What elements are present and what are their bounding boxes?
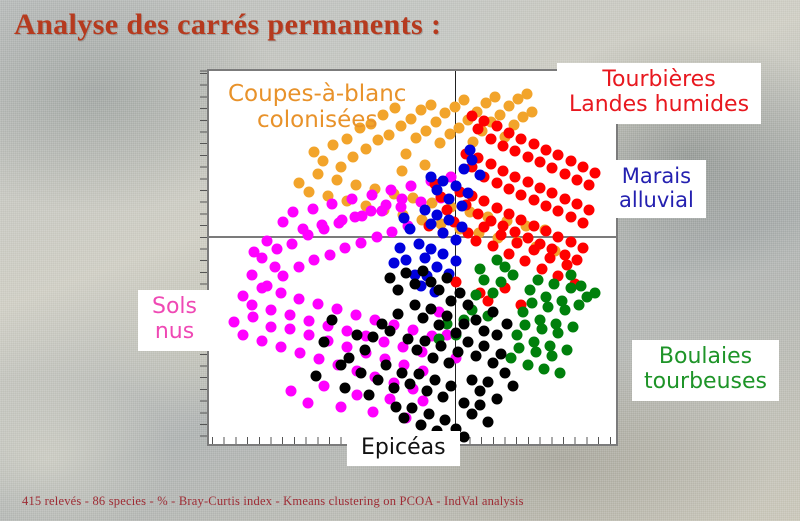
data-point: [335, 162, 346, 173]
data-point: [479, 222, 490, 233]
data-point: [547, 188, 558, 199]
data-point: [384, 326, 395, 337]
data-point: [313, 169, 324, 180]
data-point: [462, 188, 473, 199]
data-point: [388, 258, 399, 269]
data-point: [335, 401, 346, 412]
data-point: [430, 117, 441, 128]
data-point: [491, 178, 502, 189]
data-point: [504, 127, 515, 138]
cluster-label-boulaies-tourbeuses: Boulaies tourbeuses: [632, 340, 779, 401]
data-point: [401, 267, 412, 278]
data-point: [528, 194, 539, 205]
data-point: [395, 243, 406, 254]
data-point: [504, 209, 515, 220]
data-point: [504, 183, 515, 194]
data-point: [487, 241, 498, 252]
data-point: [419, 335, 430, 346]
cluster-label-tourbieres: Tourbières Landes humides: [557, 63, 761, 124]
data-point: [405, 378, 416, 389]
data-point: [413, 369, 424, 380]
data-point: [522, 88, 533, 99]
data-point: [348, 151, 359, 162]
page-title: Analyse des carrés permanents :: [14, 8, 441, 42]
data-point: [538, 363, 549, 374]
data-point: [578, 243, 589, 254]
data-point: [313, 354, 324, 365]
data-point: [351, 390, 362, 401]
data-point: [450, 234, 461, 245]
data-point: [256, 283, 267, 294]
data-point: [485, 158, 496, 169]
data-point: [512, 329, 523, 340]
data-point: [411, 344, 422, 355]
data-point: [307, 203, 318, 214]
data-point: [555, 367, 566, 378]
data-point: [545, 252, 556, 263]
data-point: [340, 243, 351, 254]
data-point: [297, 224, 308, 235]
data-point: [310, 371, 321, 382]
data-point: [475, 386, 486, 397]
data-point: [487, 288, 498, 299]
data-point: [516, 189, 527, 200]
data-point: [541, 225, 552, 236]
data-point: [415, 420, 426, 431]
data-point: [324, 249, 335, 260]
data-point: [518, 307, 529, 318]
data-point: [549, 279, 560, 290]
cluster-label-epiceas: Epicéas: [347, 431, 460, 466]
data-point: [491, 329, 502, 340]
data-point: [266, 305, 277, 316]
data-point: [491, 393, 502, 404]
data-point: [479, 341, 490, 352]
data-point: [446, 380, 457, 391]
data-point: [536, 263, 547, 274]
data-point: [379, 336, 390, 347]
data-point: [565, 156, 576, 167]
data-point: [530, 346, 541, 357]
data-point: [405, 224, 416, 235]
data-point: [471, 235, 482, 246]
data-point: [397, 367, 408, 378]
data-point: [368, 331, 379, 342]
data-point: [434, 284, 445, 295]
data-point: [351, 329, 362, 340]
data-point: [277, 216, 288, 227]
data-point: [522, 151, 533, 162]
data-point: [421, 126, 432, 137]
data-point: [438, 176, 449, 187]
data-point: [277, 271, 288, 282]
data-point: [473, 209, 484, 220]
data-point: [303, 315, 314, 326]
data-point: [571, 174, 582, 185]
data-point: [409, 299, 420, 310]
data-point: [427, 352, 438, 363]
data-point: [559, 168, 570, 179]
data-point: [432, 262, 443, 273]
data-point: [403, 333, 414, 344]
data-point: [387, 226, 398, 237]
data-point: [504, 248, 515, 259]
data-point: [467, 154, 478, 165]
data-point: [547, 163, 558, 174]
data-point: [356, 210, 367, 221]
data-point: [361, 143, 372, 154]
data-point: [553, 328, 564, 339]
data-point: [293, 262, 304, 273]
data-point: [506, 352, 517, 363]
data-point: [495, 348, 506, 359]
data-point: [327, 314, 338, 325]
data-point: [446, 295, 457, 306]
data-point: [351, 309, 362, 320]
data-point: [467, 375, 478, 386]
data-point: [467, 409, 478, 420]
data-point: [501, 318, 512, 329]
data-point: [458, 397, 469, 408]
data-point: [479, 115, 490, 126]
data-point: [419, 160, 430, 171]
data-point: [450, 181, 461, 192]
data-point: [417, 395, 428, 406]
data-point: [319, 337, 330, 348]
data-point: [522, 360, 533, 371]
data-point: [303, 186, 314, 197]
data-point: [497, 165, 508, 176]
data-point: [380, 360, 391, 371]
data-point: [238, 329, 249, 340]
data-point: [524, 284, 535, 295]
data-point: [417, 265, 428, 276]
data-point: [541, 200, 552, 211]
data-point: [491, 254, 502, 265]
data-point: [565, 237, 576, 248]
data-point: [386, 185, 397, 196]
data-point: [536, 324, 547, 335]
data-point: [510, 171, 521, 182]
data-point: [444, 194, 455, 205]
data-point: [458, 431, 469, 442]
data-point: [393, 309, 404, 320]
data-point: [561, 344, 572, 355]
data-point: [430, 375, 441, 386]
data-point: [526, 297, 537, 308]
data-point: [565, 212, 576, 223]
data-point: [510, 145, 521, 156]
data-point: [553, 150, 564, 161]
data-point: [483, 377, 494, 388]
data-point: [458, 95, 469, 106]
data-point: [495, 277, 506, 288]
data-point: [368, 407, 379, 418]
data-point: [342, 341, 353, 352]
data-point: [421, 386, 432, 397]
data-point: [528, 220, 539, 231]
data-point: [475, 263, 486, 274]
data-point: [294, 347, 305, 358]
data-point: [407, 403, 418, 414]
data-point: [425, 243, 436, 254]
data-point: [491, 203, 502, 214]
data-point: [508, 269, 519, 280]
data-point: [442, 273, 453, 284]
cluster-label-marais-alluvial: Marais alluvial: [607, 160, 706, 218]
data-point: [456, 222, 467, 233]
data-point: [522, 232, 533, 243]
data-point: [471, 314, 482, 325]
data-point: [528, 245, 539, 256]
data-point: [528, 139, 539, 150]
data-point: [335, 360, 346, 371]
data-point: [425, 171, 436, 182]
data-point: [526, 106, 537, 117]
data-point: [425, 99, 436, 110]
data-point: [339, 382, 350, 393]
data-point: [435, 138, 446, 149]
data-point: [590, 167, 601, 178]
data-point: [559, 194, 570, 205]
data-point: [571, 255, 582, 266]
cluster-label-sols-nus: Sols nus: [138, 290, 211, 351]
data-point: [371, 231, 382, 242]
data-point: [434, 320, 445, 331]
data-point: [285, 323, 296, 334]
data-point: [409, 279, 420, 290]
data-point: [490, 92, 501, 103]
data-point: [417, 312, 428, 323]
data-point: [452, 346, 463, 357]
data-point: [438, 228, 449, 239]
data-point: [397, 165, 408, 176]
data-point: [438, 392, 449, 403]
data-point: [479, 275, 490, 286]
data-point: [499, 367, 510, 378]
data-point: [319, 380, 330, 391]
data-point: [304, 329, 315, 340]
data-point: [584, 205, 595, 216]
data-point: [475, 169, 486, 180]
data-point: [328, 140, 339, 151]
data-point: [541, 145, 552, 156]
data-point: [520, 256, 531, 267]
data-point: [399, 213, 410, 224]
data-point: [401, 254, 412, 265]
data-point: [487, 307, 498, 318]
data-point: [356, 237, 367, 248]
data-point: [399, 412, 410, 423]
data-point: [520, 320, 531, 331]
data-point: [534, 182, 545, 193]
data-point: [294, 293, 305, 304]
data-point: [249, 246, 260, 257]
data-point: [479, 196, 490, 207]
data-point: [327, 198, 338, 209]
data-point: [571, 199, 582, 210]
data-point: [450, 328, 461, 339]
data-point: [578, 217, 589, 228]
data-point: [257, 335, 268, 346]
data-point: [287, 238, 298, 249]
data-point: [462, 299, 473, 310]
data-point: [425, 277, 436, 288]
data-point: [332, 304, 343, 315]
data-point: [261, 235, 272, 246]
data-point: [444, 358, 455, 369]
data-point: [590, 288, 601, 299]
figure-caption: 415 relevés - 86 species - % - Bray-Curt…: [22, 494, 524, 509]
data-point: [475, 399, 486, 410]
data-point: [286, 386, 297, 397]
data-point: [284, 310, 295, 321]
data-point: [228, 316, 239, 327]
data-point: [247, 299, 258, 310]
data-point: [247, 269, 258, 280]
data-point: [308, 147, 319, 158]
data-point: [356, 367, 367, 378]
data-point: [522, 176, 533, 187]
data-point: [351, 179, 362, 190]
data-point: [396, 201, 407, 212]
data-point: [565, 269, 576, 280]
data-point: [376, 206, 387, 217]
data-point: [313, 298, 324, 309]
data-point: [275, 341, 286, 352]
data-point: [494, 109, 505, 120]
data-point: [532, 275, 543, 286]
data-point: [567, 322, 578, 333]
data-point: [485, 133, 496, 144]
data-point: [458, 164, 469, 175]
data-point: [302, 397, 313, 408]
data-point: [584, 179, 595, 190]
data-point: [547, 350, 558, 361]
data-point: [423, 409, 434, 420]
data-point: [508, 380, 519, 391]
data-point: [332, 175, 343, 186]
data-point: [419, 205, 430, 216]
data-point: [543, 301, 554, 312]
data-point: [440, 414, 451, 425]
data-point: [309, 255, 320, 266]
data-point: [462, 337, 473, 348]
data-point: [269, 262, 280, 273]
data-point: [534, 157, 545, 168]
cluster-label-coupes-a-blanc: Coupes-à-blanc colonisées: [219, 78, 415, 139]
data-point: [287, 207, 298, 218]
data-point: [454, 122, 465, 133]
data-point: [425, 303, 436, 314]
data-point: [438, 249, 449, 260]
data-point: [400, 148, 411, 159]
data-point: [516, 214, 527, 225]
data-point: [366, 189, 377, 200]
data-point: [266, 321, 277, 332]
data-point: [458, 318, 469, 329]
data-point: [578, 161, 589, 172]
data-point: [516, 133, 527, 144]
data-point: [471, 290, 482, 301]
data-point: [467, 111, 478, 122]
data-point: [436, 341, 447, 352]
data-point: [444, 215, 455, 226]
data-point: [275, 288, 286, 299]
data-point: [497, 140, 508, 151]
data-point: [575, 280, 586, 291]
data-point: [483, 416, 494, 427]
data-point: [364, 390, 375, 401]
data-point: [384, 273, 395, 284]
data-point: [337, 215, 348, 226]
data-point: [456, 200, 467, 211]
data-point: [318, 156, 329, 167]
data-point: [317, 219, 328, 230]
data-point: [360, 344, 371, 355]
data-point: [491, 121, 502, 132]
data-point: [553, 231, 564, 242]
data-point: [471, 350, 482, 361]
data-point: [271, 243, 282, 254]
data-point: [450, 256, 461, 267]
data-point: [391, 401, 402, 412]
data-point: [406, 180, 417, 191]
data-point: [294, 177, 305, 188]
data-point: [565, 282, 576, 293]
data-point: [495, 229, 506, 240]
data-point: [372, 375, 383, 386]
left-axis-ticks: [200, 69, 207, 446]
data-point: [432, 210, 443, 221]
data-point: [347, 194, 358, 205]
data-point: [487, 358, 498, 369]
data-point: [464, 145, 475, 156]
data-point: [514, 343, 525, 354]
data-point: [442, 311, 453, 322]
data-point: [559, 305, 570, 316]
data-point: [388, 382, 399, 393]
data-point: [393, 284, 404, 295]
data-point: [247, 311, 258, 322]
data-point: [237, 291, 248, 302]
data-point: [479, 326, 490, 337]
data-point: [413, 239, 424, 250]
data-point: [553, 206, 564, 217]
slide-canvas: Analyse des carrés permanents : Coupes-à…: [0, 0, 800, 521]
data-point: [512, 237, 523, 248]
